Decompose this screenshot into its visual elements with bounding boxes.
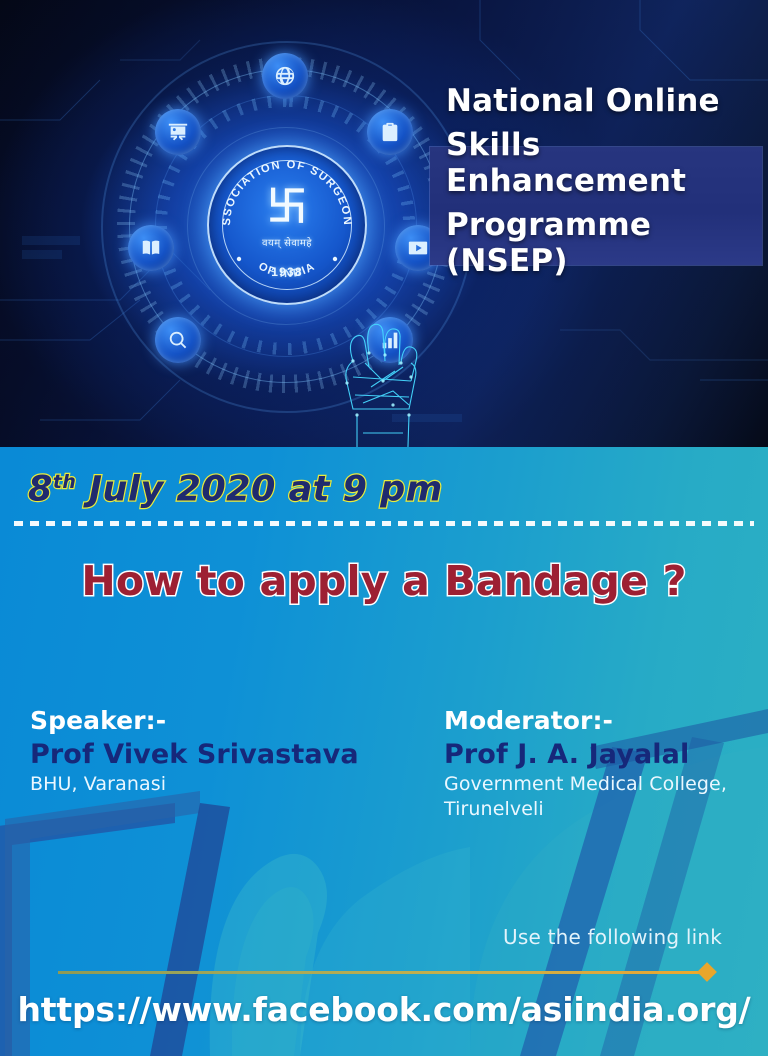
hero-title-block: National Online Skills Enhancement Progr… [446,84,762,280]
poster: ASSOCIATION OF SURGEONS OF INDIA 卐 वयम् … [0,0,768,1056]
clipboard-icon [367,109,413,155]
poster-body: 8th July 2020 at 9 pm How to apply a Ban… [0,447,768,1056]
speaker-affiliation: BHU, Varanasi [30,772,420,797]
speaker-role-label: Speaker:- [30,705,420,737]
hud-rings: ASSOCIATION OF SURGEONS OF INDIA 卐 वयम् … [95,35,475,415]
event-date-day: 8 [28,470,53,510]
moderator-affiliation: Government Medical College, Tirunelveli [444,772,754,822]
title-line-national-online: National Online [446,84,762,120]
book-icon [128,225,174,271]
wireframe-hand-graphic [323,315,443,447]
magnifier-icon [155,317,201,363]
dashed-divider [14,521,754,526]
asi-logo-year: 1938 [209,265,365,279]
moderator-block: Moderator:- Prof J. A. Jayalal Governmen… [444,705,754,822]
link-prompt-label: Use the following link [503,925,722,949]
presentation-icon [155,109,201,155]
globe-icon [262,53,308,99]
moderator-name: Prof J. A. Jayalal [444,737,754,772]
event-date-ordinal: th [53,471,76,493]
asi-logo: ASSOCIATION OF SURGEONS OF INDIA 卐 वयम् … [207,145,367,305]
speaker-block: Speaker:- Prof Vivek Srivastava BHU, Var… [30,705,420,797]
speaker-name: Prof Vivek Srivastava [30,737,420,772]
event-date-rest: July 2020 at 9 pm [76,470,442,510]
hero-banner: ASSOCIATION OF SURGEONS OF INDIA 卐 वयम् … [0,0,768,447]
title-line-skills: Skills [446,128,762,164]
asi-logo-symbol: 卐 [209,187,365,227]
title-line-nsep: (NSEP) [446,244,762,280]
facebook-link[interactable]: https://www.facebook.com/asiindia.org/ [0,988,768,1032]
asi-logo-motto: वयम् सेवामहे [209,235,365,249]
event-date: 8th July 2020 at 9 pm [28,460,443,512]
event-topic: How to apply a Bandage ? [0,557,768,605]
title-line-enhancement: Enhancement [446,164,762,200]
title-line-programme: Programme [446,208,762,244]
moderator-role-label: Moderator:- [444,705,754,737]
gold-divider-rule [58,971,708,974]
